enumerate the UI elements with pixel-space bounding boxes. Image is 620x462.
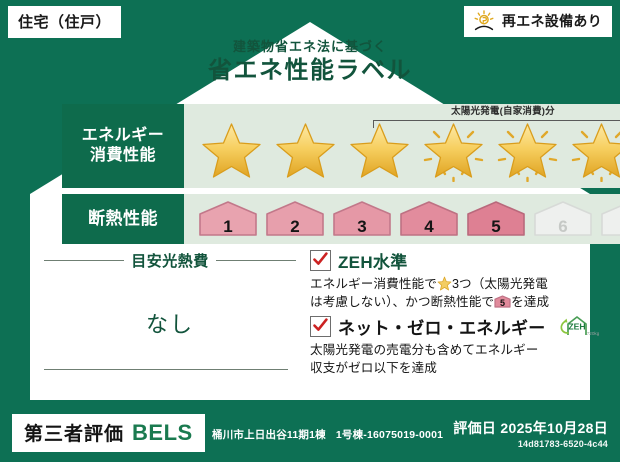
bels-en-label: BELS <box>132 420 193 446</box>
label-title-block: 建築物省エネ法に基づく 省エネ性能ラベル <box>0 40 620 86</box>
evaluation-date-value: 2025年10月28日 <box>500 420 608 436</box>
evaluation-info: 評価日 2025年10月28日 14d81783-6520-4c44 <box>453 418 608 449</box>
energy-stars-area: 太陽光発電(自家消費)分 <box>184 104 620 188</box>
evaluation-id: 14d81783-6520-4c44 <box>453 439 608 449</box>
insulation-level-5: 5 <box>464 200 528 238</box>
insulation-level-value: 4 <box>397 218 461 235</box>
star-rating <box>184 116 620 182</box>
renewable-equipment-badge: 再エネ設備あり <box>464 6 612 37</box>
energy-performance-row: エネルギー 消費性能 太陽光発電(自家消費)分 <box>62 104 562 188</box>
performance-rows: エネルギー 消費性能 太陽光発電(自家消費)分 <box>62 104 562 250</box>
insulation-performance-row: 断熱性能 1 2 3 <box>62 194 562 244</box>
energy-label-line1: エネルギー <box>82 126 165 146</box>
net-zero-title: ネット・ゼロ・エネルギー <box>338 314 546 339</box>
zeh-standard-item: ZEH水準 エネルギー消費性能で3つ（太陽光発電 は考慮しない）、かつ断熱性能で… <box>310 248 601 312</box>
utility-cost-bottom-rule <box>44 369 288 370</box>
evaluation-date-line: 評価日 2025年10月28日 <box>453 418 608 438</box>
rule-left <box>44 260 124 261</box>
bels-jp-label: 第三者評価 <box>24 419 124 446</box>
energy-performance-label: 住宅（住戸） 再エネ設備あり 建築物省エネ法に基づく 省エネ性能ラベル <box>0 0 620 462</box>
insulation-label-text: 断熱性能 <box>88 208 158 230</box>
property-address: 桶川市上日出谷11期1棟 <box>212 429 326 441</box>
star-icon <box>344 116 415 182</box>
checkbox-zeh-standard[interactable] <box>310 250 331 271</box>
footer-bar: 第三者評価 BELS 桶川市上日出谷11期1棟1号棟-16075019-0001… <box>0 406 620 462</box>
insulation-level-value: 1 <box>196 218 260 235</box>
insulation-level-7: 7 <box>598 200 620 238</box>
utility-cost-header: 目安光熱費 <box>44 250 296 271</box>
zeh-desc-part-a: エネルギー消費性能で <box>310 277 437 291</box>
insulation-level-value: 7 <box>598 218 620 235</box>
insulation-level-value: 3 <box>330 218 394 235</box>
insulation-performance-label: 断熱性能 <box>62 194 184 244</box>
star-icon <box>196 116 267 182</box>
property-address-line: 桶川市上日出谷11期1棟1号棟-16075019-0001 <box>212 427 443 442</box>
inline-star-icon <box>437 276 452 291</box>
insulation-level-value: 6 <box>531 218 595 235</box>
zeh-desc-part-b: 3つ（太陽光発電 <box>452 277 548 291</box>
energy-performance-label: エネルギー 消費性能 <box>62 104 184 188</box>
energy-label-line2: 消費性能 <box>90 146 156 166</box>
insulation-level-value: 5 <box>464 218 528 235</box>
building-number: 1号棟-16075019-0001 <box>336 429 443 441</box>
net-zero-energy-item: ネット・ゼロ・エネルギー ZEH 720kg 太陽光発電の売電分も含めてエネルギ… <box>310 314 601 378</box>
net-zero-description: 太陽光発電の売電分も含めてエネルギー 収支がゼロ以下を達成 <box>310 342 601 378</box>
inline-insulation-badge: 5 <box>494 295 511 308</box>
utility-cost-value: なし <box>44 307 296 339</box>
star-icon-solar <box>566 116 620 182</box>
zeh-criteria-panel: ZEH水準 エネルギー消費性能で3つ（太陽光発電 は考慮しない）、かつ断熱性能で… <box>296 248 601 388</box>
utility-cost-panel: 目安光熱費 なし <box>44 248 296 388</box>
insulation-level-value: 2 <box>263 218 327 235</box>
label-title: 省エネ性能ラベル <box>0 56 620 86</box>
insulation-level-3: 3 <box>330 200 394 238</box>
building-type-tag: 住宅（住戸） <box>8 6 121 38</box>
zeh-standard-title: ZEH水準 <box>338 248 408 273</box>
star-icon-solar <box>418 116 489 182</box>
star-icon <box>270 116 341 182</box>
insulation-scale: 1 2 3 4 5 <box>184 200 620 238</box>
zeh-standard-description: エネルギー消費性能で3つ（太陽光発電 は考慮しない）、かつ断熱性能で5を達成 <box>310 276 601 312</box>
utility-cost-title: 目安光熱費 <box>131 250 209 271</box>
sun-icon <box>472 10 496 32</box>
insulation-level-6: 6 <box>531 200 595 238</box>
inline-badge-value: 5 <box>494 299 511 308</box>
net-zero-desc-b: 収支がゼロ以下を達成 <box>310 361 437 375</box>
renewable-badge-label: 再エネ設備あり <box>502 11 602 31</box>
insulation-scale-area: 1 2 3 4 5 <box>184 194 620 244</box>
svg-text:720kg: 720kg <box>586 331 599 336</box>
zeh-standard-header: ZEH水準 <box>310 248 601 273</box>
insulation-level-4: 4 <box>397 200 461 238</box>
zeh-desc-part-c: は考慮しない）、かつ断熱性能で <box>310 295 494 309</box>
checkbox-net-zero-energy[interactable] <box>310 316 331 337</box>
insulation-level-2: 2 <box>263 200 327 238</box>
rule-right <box>216 260 296 261</box>
svg-text:ZEH: ZEH <box>568 322 585 332</box>
net-zero-header: ネット・ゼロ・エネルギー ZEH 720kg <box>310 314 601 339</box>
insulation-level-1: 1 <box>196 200 260 238</box>
star-icon-solar <box>492 116 563 182</box>
zeh-logo-icon: ZEH 720kg <box>555 314 601 338</box>
zeh-desc-part-d: を達成 <box>511 295 549 309</box>
bottom-section: 目安光熱費 なし ZEH水準 エネルギー消費性能で3つ（太陽光発電 は考慮しない… <box>44 248 580 388</box>
evaluation-date-label: 評価日 <box>453 420 496 436</box>
net-zero-desc-a: 太陽光発電の売電分も含めてエネルギー <box>310 343 539 357</box>
bels-certification-box: 第三者評価 BELS <box>12 414 205 452</box>
label-subtitle: 建築物省エネ法に基づく <box>0 40 620 54</box>
